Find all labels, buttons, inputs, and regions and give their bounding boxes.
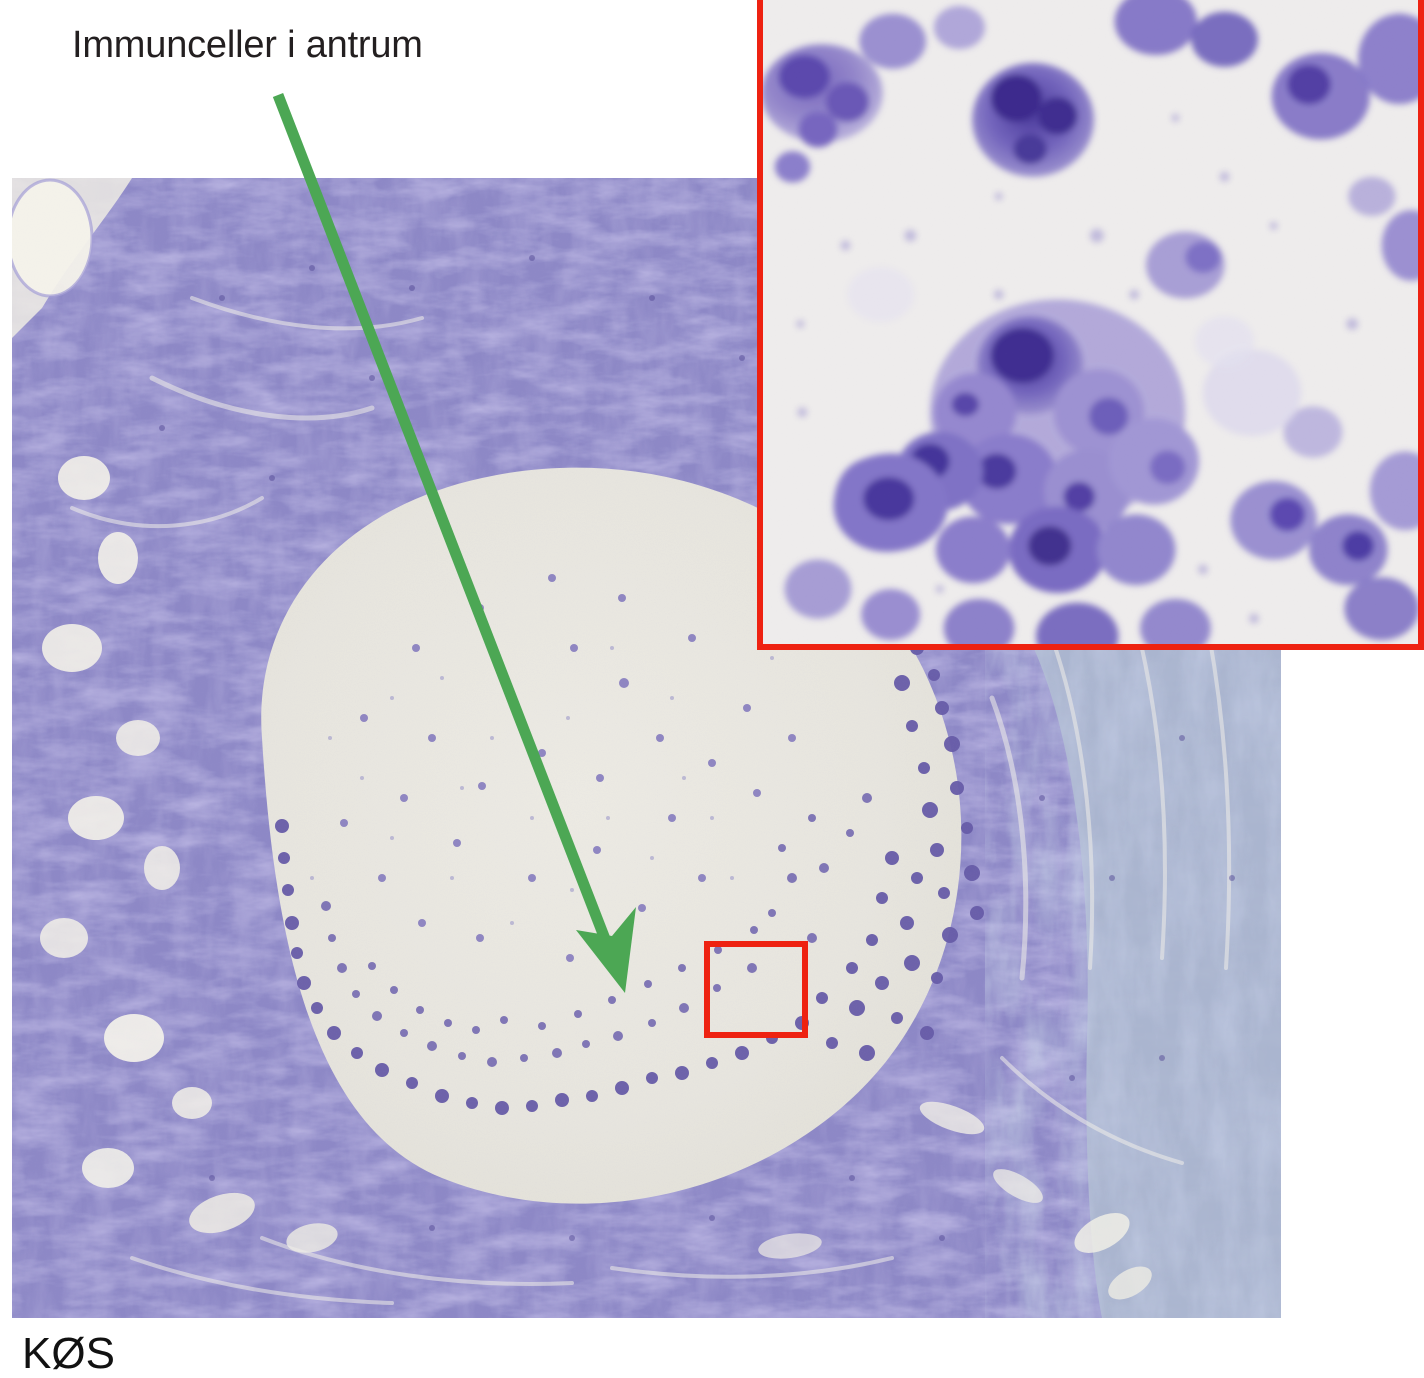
- bottom-caption: KØS: [22, 1330, 115, 1378]
- page-title: Immunceller i antrum: [72, 22, 423, 68]
- inset-micrograph-canvas: [763, 0, 1418, 644]
- inset-micrograph: [757, 0, 1424, 650]
- roi-red-box: [704, 941, 808, 1038]
